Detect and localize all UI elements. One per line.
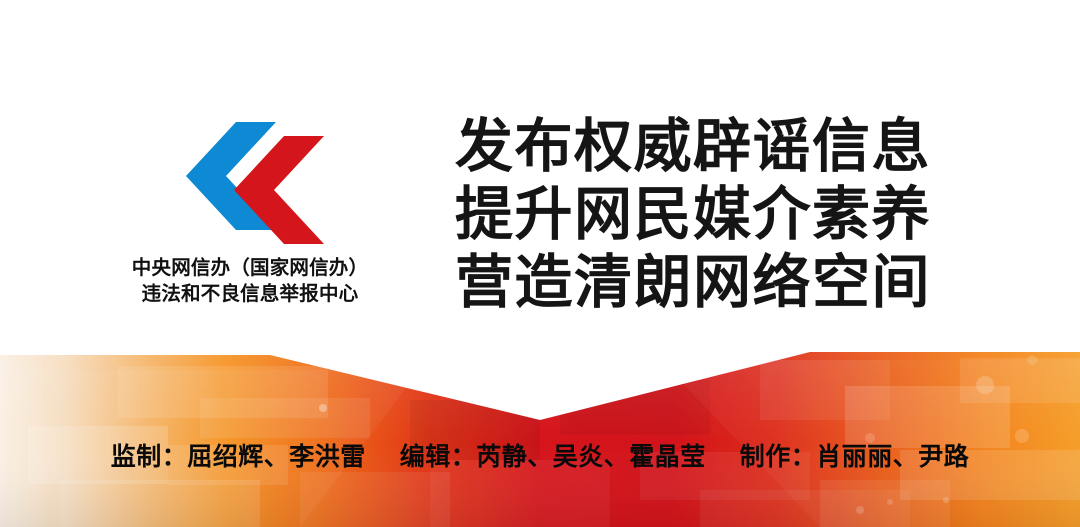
producer-names: 屈绍辉、李洪雷 — [187, 443, 366, 471]
editor-names: 芮静、吴炎、霍晶莹 — [476, 443, 706, 471]
upper-content-area: 中央网信办（国家网信办） 违法和不良信息举报中心 发布权威辟谣信息 提升网民媒介… — [0, 0, 1080, 355]
cac-report-center-logo — [170, 118, 330, 246]
banner-graphic — [0, 340, 1080, 527]
headline-line-2: 提升网民媒介素养 — [455, 180, 955, 248]
headline-line-3: 营造清朗网络空间 — [455, 248, 955, 316]
poster-root: 中央网信办（国家网信办） 违法和不良信息举报中心 发布权威辟谣信息 提升网民媒介… — [0, 0, 1080, 527]
headline-line-1: 发布权威辟谣信息 — [455, 112, 955, 180]
editor-label: 编辑： — [400, 443, 477, 471]
bottom-banner — [0, 340, 1080, 527]
logo-caption-line-2: 违法和不良信息举报中心 — [95, 282, 405, 308]
headline-slogan: 发布权威辟谣信息 提升网民媒介素养 营造清朗网络空间 — [455, 112, 955, 316]
designer-names: 肖丽丽、尹路 — [816, 443, 969, 471]
designer-label: 制作： — [740, 443, 817, 471]
credits-line: 监制：屈绍辉、李洪雷编辑：芮静、吴炎、霍晶莹制作：肖丽丽、尹路 — [0, 440, 1080, 474]
logo-caption-line-1: 中央网信办（国家网信办） — [95, 256, 405, 282]
logo-block: 中央网信办（国家网信办） 违法和不良信息举报中心 — [95, 118, 405, 307]
producer-label: 监制： — [111, 443, 188, 471]
logo-caption: 中央网信办（国家网信办） 违法和不良信息举报中心 — [95, 256, 405, 307]
